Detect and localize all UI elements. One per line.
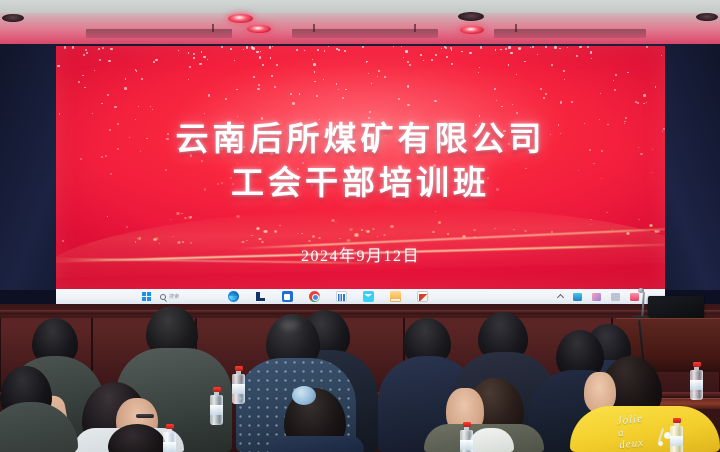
video-player-icon[interactable] bbox=[282, 291, 293, 302]
jacket-script-text: Jolie a deux bbox=[616, 413, 646, 452]
mail-icon[interactable] bbox=[363, 291, 374, 302]
ceiling-pin bbox=[414, 24, 416, 32]
windows-taskbar[interactable]: 搜索 bbox=[56, 289, 665, 304]
powerpoint-icon[interactable] bbox=[417, 291, 428, 302]
search-icon[interactable] bbox=[160, 294, 166, 300]
taskbar-search[interactable]: 搜索 bbox=[160, 293, 180, 300]
volume-icon[interactable] bbox=[611, 293, 620, 301]
ceiling-downlight bbox=[460, 26, 484, 34]
wall-rail bbox=[0, 310, 720, 314]
led-screen: 云南后所煤矿有限公司 工会干部培训班 2024年9月12日 bbox=[56, 46, 665, 289]
input-method-icon[interactable] bbox=[592, 293, 601, 301]
start-button-icon[interactable] bbox=[142, 292, 151, 301]
edge-icon[interactable] bbox=[228, 291, 239, 302]
wall-left-panel bbox=[0, 44, 56, 290]
network-icon[interactable] bbox=[573, 293, 582, 301]
folder-icon[interactable] bbox=[390, 291, 401, 302]
ceiling-pin bbox=[212, 24, 214, 32]
file-explorer-icon[interactable] bbox=[255, 291, 266, 302]
ceiling-recess bbox=[2, 14, 24, 22]
ceiling-pin bbox=[515, 24, 517, 32]
ceiling-downlight bbox=[247, 25, 271, 33]
ceiling-recess bbox=[458, 12, 484, 21]
slide-title-line1: 云南后所煤矿有限公司 bbox=[56, 112, 665, 160]
slide-title-line2: 工会干部培训班 bbox=[56, 156, 665, 204]
taskbar-tray-group bbox=[558, 293, 639, 301]
ceiling-downlight bbox=[228, 14, 253, 23]
chrome-icon[interactable] bbox=[309, 291, 320, 302]
ceiling-pin bbox=[313, 24, 315, 32]
ceiling-band bbox=[0, 0, 720, 13]
taskbar-app-group bbox=[228, 291, 428, 302]
taskbar-left-group: 搜索 bbox=[142, 292, 180, 301]
wall-right-panel bbox=[665, 44, 720, 290]
ceiling-slot bbox=[86, 29, 232, 38]
slide-date: 2024年9月12日 bbox=[56, 242, 665, 266]
search-placeholder: 搜索 bbox=[169, 293, 180, 300]
photo-scene: 云南后所煤矿有限公司 工会干部培训班 2024年9月12日 搜索 bbox=[0, 0, 720, 452]
notification-icon[interactable] bbox=[630, 293, 639, 301]
ceiling bbox=[0, 0, 720, 46]
ceiling-recess bbox=[696, 13, 718, 21]
chevron-up-icon[interactable] bbox=[557, 294, 564, 301]
excel-icon[interactable] bbox=[336, 291, 347, 302]
